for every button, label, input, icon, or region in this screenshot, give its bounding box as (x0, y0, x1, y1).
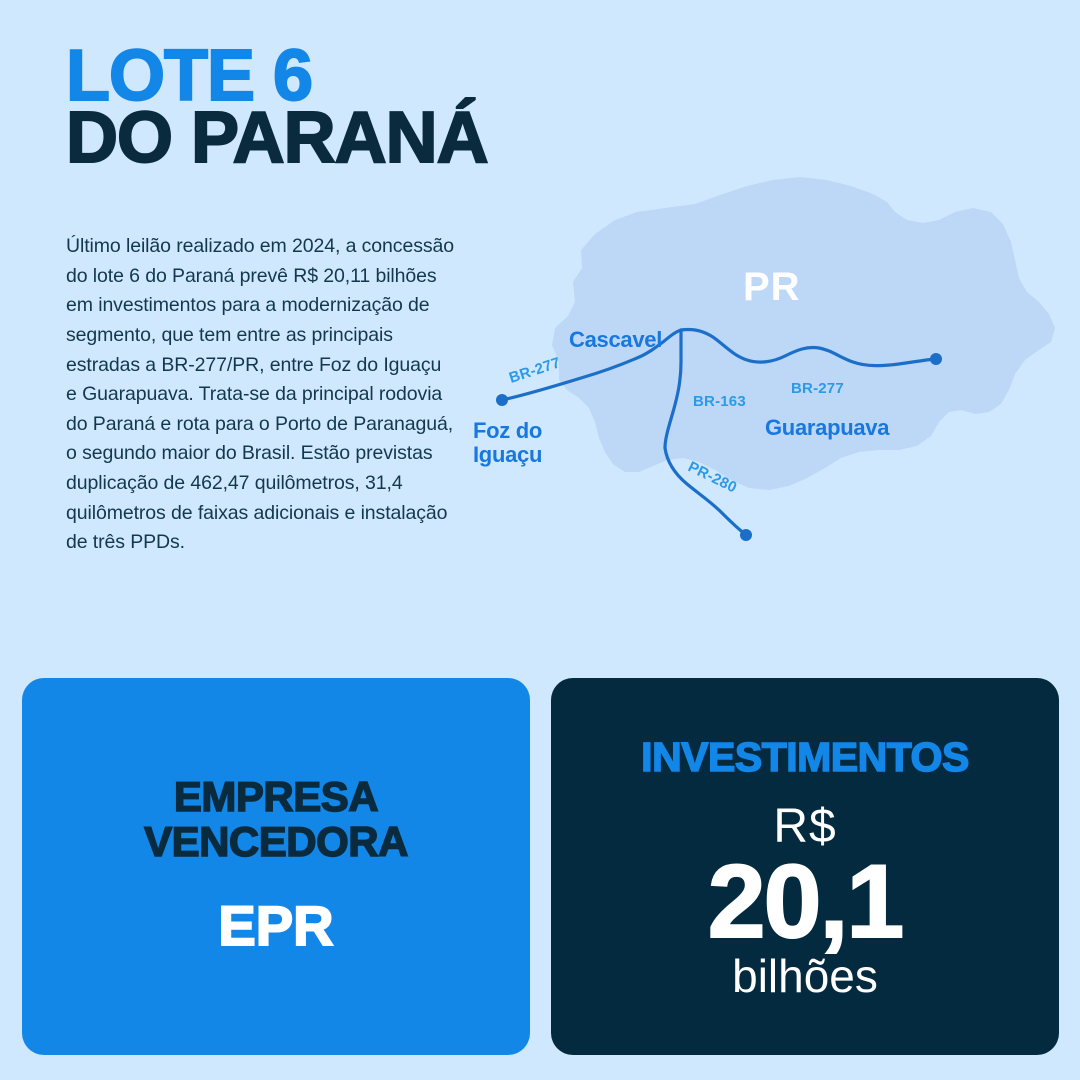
city-dot-pr280-end (740, 529, 752, 541)
card-winner-value: EPR (218, 893, 333, 958)
city-dot-guarapuava (930, 353, 942, 365)
map-label-guarapuava: Guarapuava (765, 415, 890, 440)
map-label-road-br277-west: BR-277 (507, 354, 563, 387)
card-investment-amount: 20,1 (708, 853, 902, 952)
card-investimentos: INVESTIMENTOS R$ 20,1 bilhões (551, 678, 1059, 1055)
city-dot-foz-do-iguacu (496, 394, 508, 406)
map-label-road-br277-east: BR-277 (791, 380, 844, 397)
card-winner-heading: EMPRESA VENCEDORA (144, 775, 408, 864)
title-line-parana: DO PARANÁ (66, 108, 488, 170)
map-label-cascavel: Cascavel (569, 327, 662, 352)
card-winner-heading-line2: VENCEDORA (144, 820, 408, 865)
card-empresa-vencedora: EMPRESA VENCEDORA EPR (22, 678, 530, 1055)
card-winner-heading-line1: EMPRESA (144, 775, 408, 820)
page-title: LOTE 6 DO PARANÁ (66, 46, 488, 170)
parana-map: PR Cascavel Foz do Iguaçu Guarapuava BR-… (455, 150, 1075, 570)
card-investment-unit: bilhões (732, 953, 878, 999)
map-label-state: PR (743, 265, 801, 309)
map-label-foz-do-iguacu-line1: Foz do (473, 418, 542, 443)
infographic-page: LOTE 6 DO PARANÁ Último leilão realizado… (0, 0, 1080, 1080)
map-label-road-br163: BR-163 (693, 393, 746, 410)
intro-paragraph: Último leilão realizado em 2024, a conce… (66, 232, 456, 558)
map-label-foz-do-iguacu-line2: Iguaçu (473, 442, 542, 467)
card-investment-heading: INVESTIMENTOS (641, 734, 969, 781)
